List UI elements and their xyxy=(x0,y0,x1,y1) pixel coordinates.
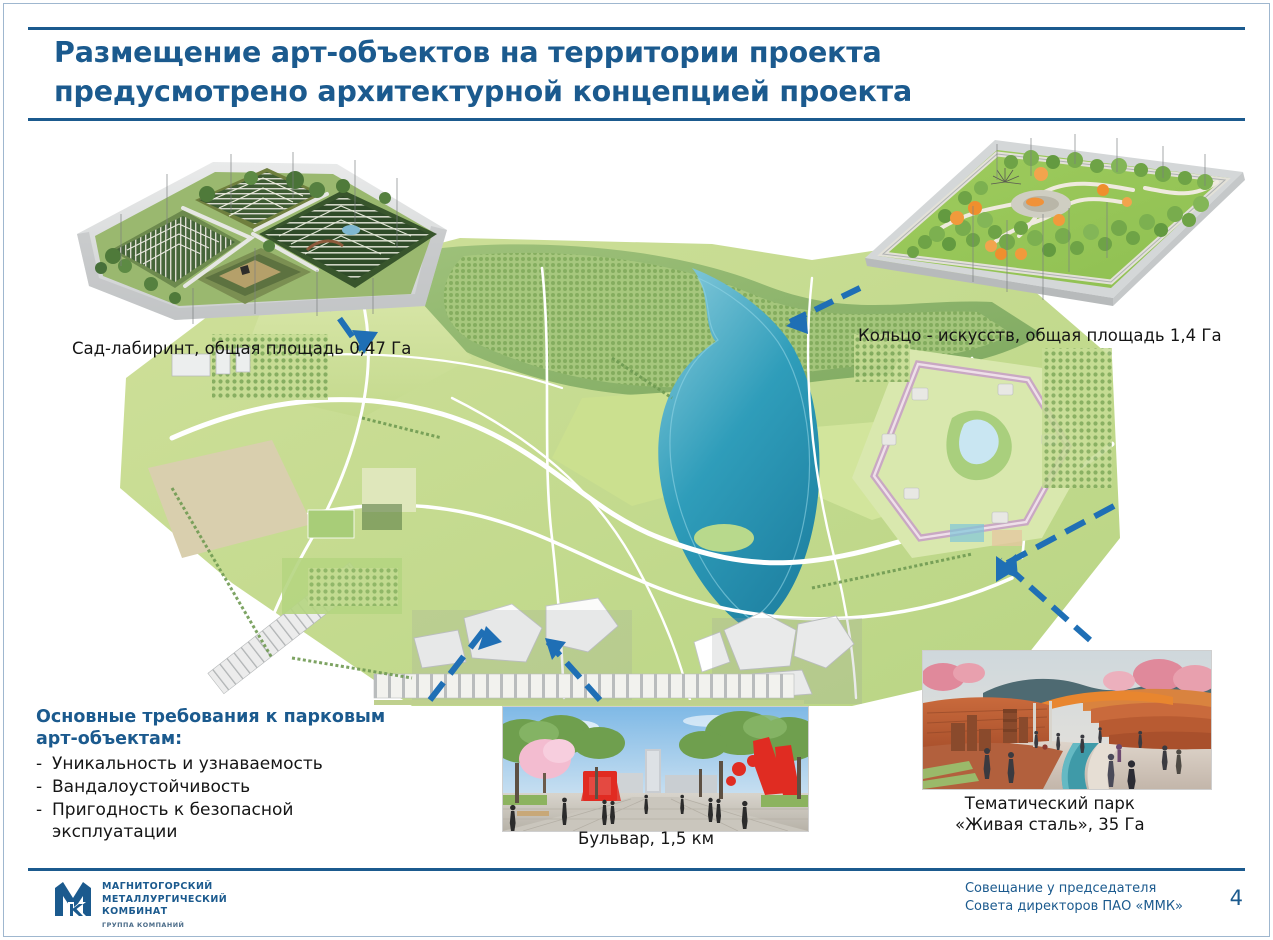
slide: Размещение арт-объектов на территории пр… xyxy=(0,0,1273,940)
caption-maze-garden: Сад-лабиринт, общая площадь 0,47 Га xyxy=(72,338,411,359)
title-rule-bottom xyxy=(28,118,1245,121)
title-rule-top xyxy=(28,27,1245,30)
caption-art-ring: Кольцо - искусств, общая площадь 1,4 Га xyxy=(858,325,1222,346)
requirement-text: Вандалоустойчивость xyxy=(52,776,250,798)
maze-garden-image xyxy=(55,138,455,333)
mmk-logo-icon xyxy=(52,878,94,920)
meeting-info: Совещание у председателя Совета директор… xyxy=(965,880,1183,915)
list-item: - Уникальность и узнаваемость xyxy=(36,753,396,775)
requirement-text: Пригодность к безопасной эксплуатации xyxy=(52,799,293,843)
logo-line-2: МЕТАЛЛУРГИЧЕСКИЙ xyxy=(102,894,227,907)
mmk-logo-text: МАГНИТОГОРСКИЙ МЕТАЛЛУРГИЧЕСКИЙ КОМБИНАТ… xyxy=(102,878,227,929)
meeting-line-2: Совета директоров ПАО «ММК» xyxy=(965,898,1183,916)
list-item: - Пригодность к безопасной эксплуатации xyxy=(36,799,396,843)
list-item: - Вандалоустойчивость xyxy=(36,776,396,798)
caption-boulevard: Бульвар, 1,5 км xyxy=(578,828,714,849)
bullet-dash: - xyxy=(36,799,45,843)
logo-line-3: КОМБИНАТ xyxy=(102,906,227,919)
meeting-line-1: Совещание у председателя xyxy=(965,880,1183,898)
requirement-text: Уникальность и узнаваемость xyxy=(52,753,323,775)
footer-rule xyxy=(28,868,1245,871)
caption-theme-park: Тематический парк «Живая сталь», 35 Га xyxy=(955,793,1145,836)
requirements-list: - Уникальность и узнаваемость - Вандалоу… xyxy=(36,753,396,843)
logo-line-1: МАГНИТОГОРСКИЙ xyxy=(102,881,227,894)
page-title-line2: предусмотрено архитектурной концепцией п… xyxy=(54,72,1233,111)
mmk-logo: МАГНИТОГОРСКИЙ МЕТАЛЛУРГИЧЕСКИЙ КОМБИНАТ… xyxy=(52,878,227,929)
page-number: 4 xyxy=(1230,886,1243,910)
requirements-heading: Основные требования к парковым арт-объек… xyxy=(36,707,396,751)
art-ring-image xyxy=(845,132,1250,307)
bullet-dash: - xyxy=(36,753,45,775)
page-title-line1: Размещение арт-объектов на территории пр… xyxy=(54,36,882,69)
boulevard-image xyxy=(502,706,809,832)
requirements-block: Основные требования к парковым арт-объек… xyxy=(36,707,396,843)
logo-subtitle: ГРУППА КОМПАНИЙ xyxy=(102,921,227,929)
page-title: Размещение арт-объектов на территории пр… xyxy=(54,33,1233,112)
thematic-park-image xyxy=(922,650,1212,790)
bullet-dash: - xyxy=(36,776,45,798)
